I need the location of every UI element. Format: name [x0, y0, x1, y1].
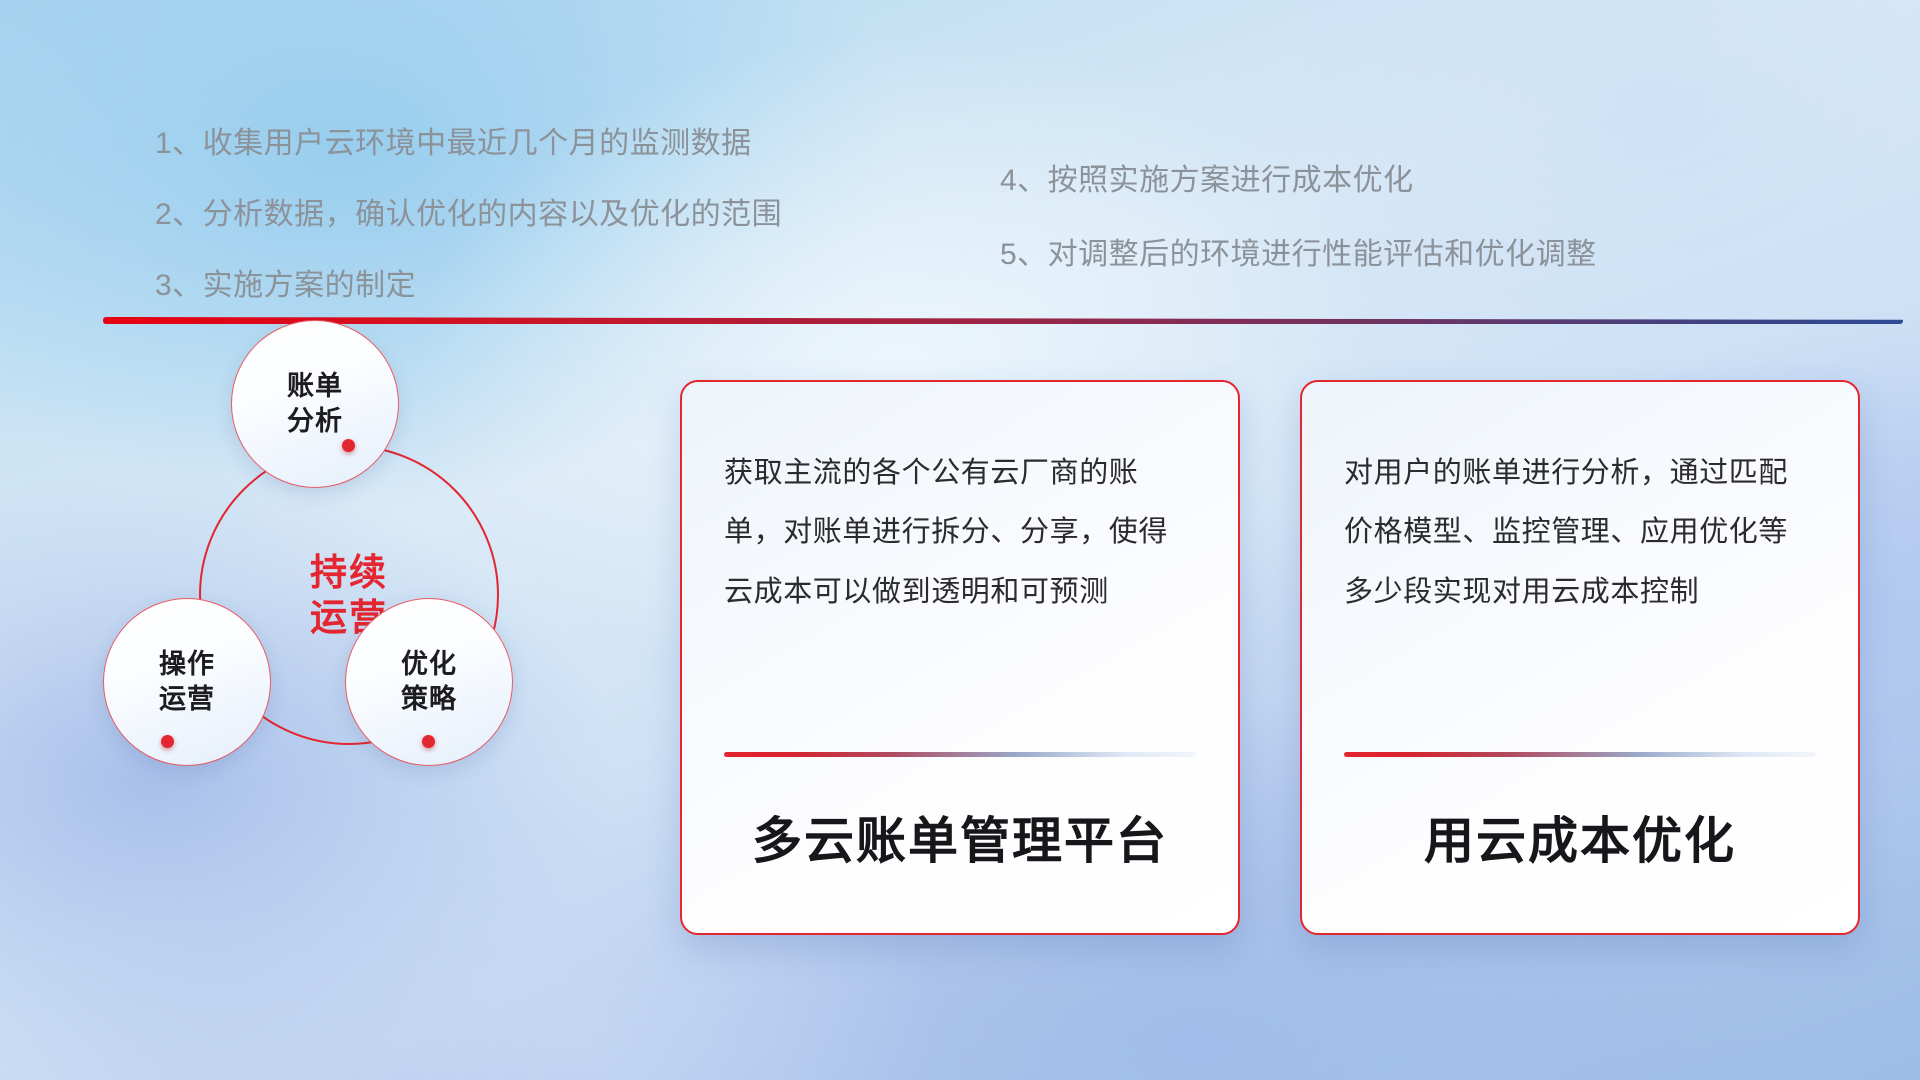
venn-node-dot-left: [161, 735, 174, 748]
feature-card-cost-optimization[interactable]: 对用户的账单进行分析，通过匹配价格模型、监控管理、应用优化等多少段实现对用云成本…: [1300, 380, 1860, 935]
step-item: 5、对调整后的环境进行性能评估和优化调整: [1000, 229, 1597, 273]
venn-circle-label-line1: 优化: [401, 649, 457, 679]
steps-right-column: 4、按照实施方案进行成本优化 5、对调整后的环境进行性能评估和优化调整: [1000, 155, 1597, 303]
feature-card-title: 用云成本优化: [1344, 757, 1816, 933]
steps-left-column: 1、收集用户云环境中最近几个月的监测数据 2、分析数据，确认优化的内容以及优化的…: [155, 118, 782, 331]
venn-node-dot-right: [422, 735, 435, 748]
venn-circle-label: 操作 运营: [159, 647, 215, 716]
venn-diagram: 持续 运营 账单 分析 操作 运营 优化 策略: [95, 340, 565, 960]
section-divider: [103, 317, 1903, 324]
feature-card-multicloud-billing[interactable]: 获取主流的各个公有云厂商的账单，对账单进行拆分、分享，使得云成本可以做到透明和可…: [680, 380, 1240, 935]
venn-circle-label: 优化 策略: [401, 647, 457, 716]
venn-circle-bill-analysis[interactable]: 账单 分析: [231, 320, 399, 488]
feature-card-body: 对用户的账单进行分析，通过匹配价格模型、监控管理、应用优化等多少段实现对用云成本…: [1344, 444, 1816, 622]
venn-node-dot-top: [342, 439, 355, 452]
divider-bar: [103, 317, 1903, 324]
venn-circle-label-line2: 分析: [287, 406, 343, 436]
venn-circle-label: 账单 分析: [287, 369, 343, 438]
steps-section: 1、收集用户云环境中最近几个月的监测数据 2、分析数据，确认优化的内容以及优化的…: [0, 0, 1920, 300]
step-item: 2、分析数据，确认优化的内容以及优化的范围: [155, 189, 782, 233]
venn-circle-label-line2: 策略: [401, 684, 457, 714]
venn-circle-label-line1: 账单: [287, 371, 343, 401]
venn-circle-operations[interactable]: 操作 运营: [103, 598, 271, 766]
step-item: 1、收集用户云环境中最近几个月的监测数据: [155, 118, 782, 162]
venn-circle-label-line1: 操作: [159, 649, 215, 679]
venn-circle-label-line2: 运营: [159, 684, 215, 714]
feature-cards: 获取主流的各个公有云厂商的账单，对账单进行拆分、分享，使得云成本可以做到透明和可…: [680, 380, 1900, 950]
step-item: 4、按照实施方案进行成本优化: [1000, 155, 1597, 199]
step-item: 3、实施方案的制定: [155, 260, 782, 304]
feature-card-body: 获取主流的各个公有云厂商的账单，对账单进行拆分、分享，使得云成本可以做到透明和可…: [724, 444, 1196, 622]
feature-card-title: 多云账单管理平台: [724, 757, 1196, 933]
